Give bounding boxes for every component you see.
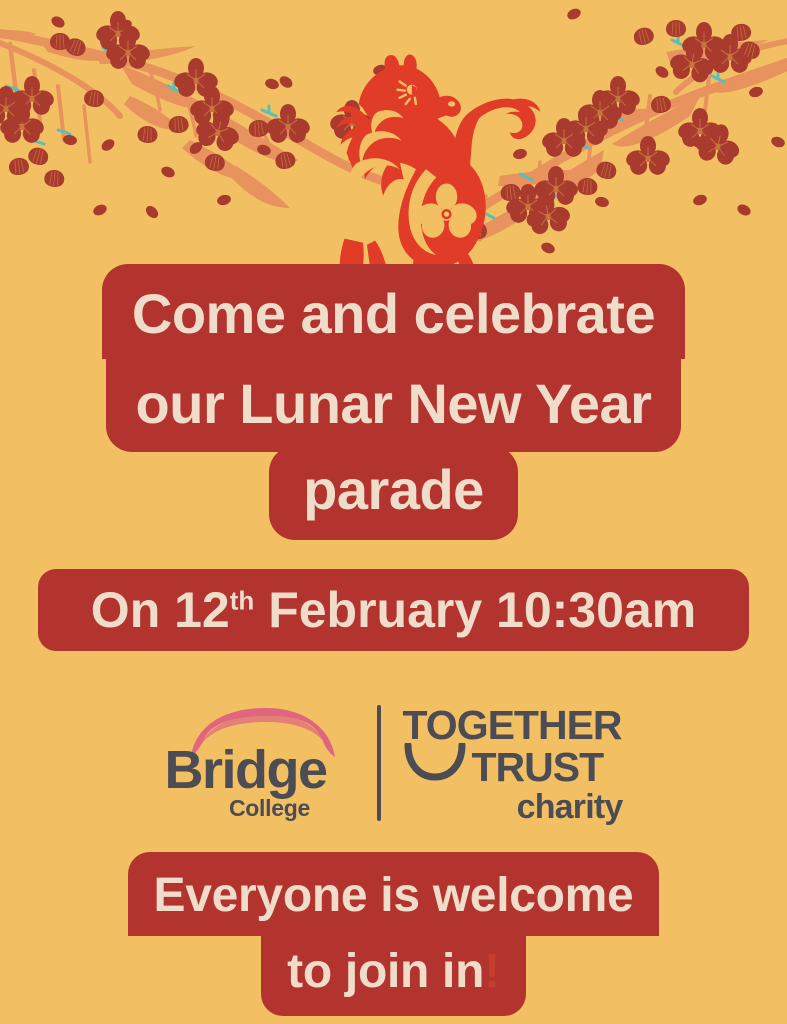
welcome-line-2-text: to join in (287, 945, 484, 998)
welcome-line-1: Everyone is welcome (128, 852, 660, 936)
headline-block: Come and celebrate our Lunar New Year pa… (0, 264, 787, 540)
falling-petals-right (264, 7, 786, 256)
headline-line-1: Come and celebrate (102, 264, 685, 359)
logo-row: Bridge College TOGETHER TRUST charity (0, 695, 787, 830)
headline-line-2-wrap: our Lunar New Year (0, 359, 787, 452)
headline-line-3: parade (269, 446, 518, 540)
headline-line-3-wrap: parade (0, 446, 787, 540)
bridge-college-logo: Bridge College (163, 699, 363, 827)
date-bar: On 12th February 10:30am (38, 569, 749, 651)
logo-divider (377, 705, 381, 821)
headline-line-2: our Lunar New Year (106, 359, 682, 452)
together-trust-line-3: charity (403, 790, 625, 824)
welcome-line-1-wrap: Everyone is welcome (0, 852, 787, 936)
headline-line-1-wrap: Come and celebrate (0, 264, 787, 359)
welcome-line-2: to join in! (261, 934, 526, 1016)
welcome-block: Everyone is welcome to join in! (0, 852, 787, 1016)
date-ordinal-suffix: th (230, 585, 255, 615)
date-suffix: February 10:30am (254, 582, 696, 638)
date-prefix: On 12 (91, 582, 230, 638)
smile-icon (404, 743, 466, 781)
cherry-blossom-branch-left (0, 11, 444, 220)
date-text: On 12th February 10:30am (91, 585, 696, 635)
falling-petals-left (49, 14, 294, 220)
bridge-wordmark: Bridge (163, 743, 363, 797)
together-trust-line-1: TOGETHER (403, 705, 622, 746)
bridge-college-subtitle: College (163, 797, 363, 820)
together-trust-line-2: TRUST (472, 747, 604, 788)
together-trust-logo: TOGETHER TRUST charity (403, 699, 625, 827)
cherry-blossom-branch-right (264, 7, 787, 256)
poster-canvas: Come and celebrate our Lunar New Year pa… (0, 0, 787, 1024)
welcome-line-2-wrap: to join in! (0, 934, 787, 1016)
welcome-exclamation: ! (484, 945, 500, 998)
paper-cut-horse (332, 54, 540, 290)
decorative-artwork (0, 0, 787, 290)
